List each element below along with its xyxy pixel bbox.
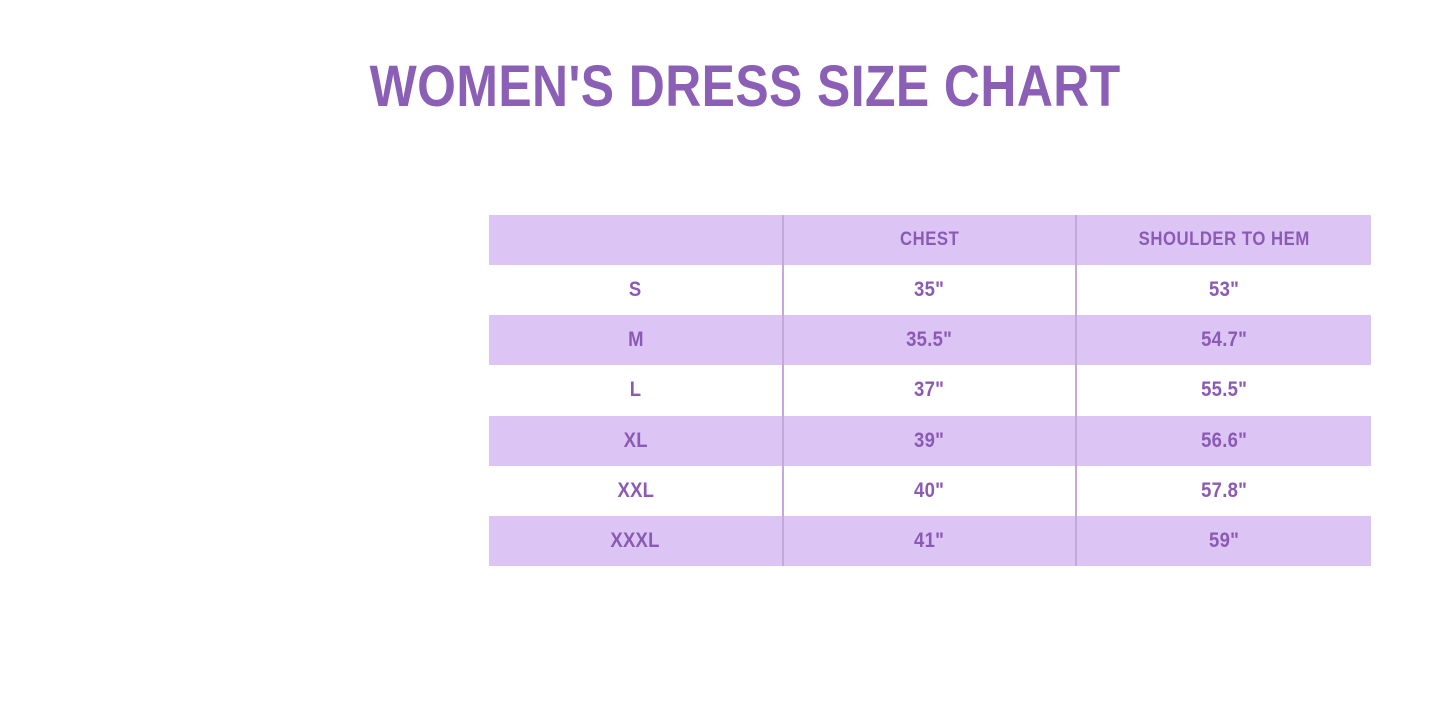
size-label: XL	[623, 429, 647, 453]
table-row: S 35" 53"	[489, 265, 1371, 315]
column-header-chest: CHEST	[783, 215, 1076, 265]
cell-size: XXXL	[489, 516, 783, 566]
cell-shoulder-to-hem: 55.5"	[1076, 365, 1371, 415]
shoulder-to-hem-value: 59"	[1209, 529, 1239, 553]
chest-value: 35"	[914, 278, 944, 302]
table-row: XL 39" 56.6"	[489, 416, 1371, 466]
table-row: XXL 40" 57.8"	[489, 466, 1371, 516]
column-header-shoulder-to-hem-label: SHOULDER TO HEM	[1138, 229, 1309, 251]
table-row: L 37" 55.5"	[489, 365, 1371, 415]
cell-size: S	[489, 265, 783, 315]
cell-chest: 40"	[783, 466, 1076, 516]
cell-size: L	[489, 365, 783, 415]
chest-value: 41"	[914, 529, 944, 553]
table-row: M 35.5" 54.7"	[489, 315, 1371, 365]
chest-value: 39"	[914, 429, 944, 453]
shoulder-to-hem-value: 57.8"	[1201, 479, 1247, 503]
chest-value: 40"	[914, 479, 944, 503]
cell-shoulder-to-hem: 57.8"	[1076, 466, 1371, 516]
cell-size: M	[489, 315, 783, 365]
chest-value: 35.5"	[906, 328, 952, 352]
cell-chest: 37"	[783, 365, 1076, 415]
cell-chest: 35.5"	[783, 315, 1076, 365]
size-label: XXXL	[611, 529, 660, 553]
column-header-size	[489, 215, 783, 265]
table-row: XXXL 41" 59"	[489, 516, 1371, 566]
shoulder-to-hem-value: 54.7"	[1201, 328, 1247, 352]
cell-chest: 35"	[783, 265, 1076, 315]
size-label: M	[628, 328, 644, 352]
table-header-row: CHEST SHOULDER TO HEM	[489, 215, 1371, 265]
page-title: WOMEN'S DRESS SIZE CHART	[124, 57, 1367, 118]
column-header-shoulder-to-hem: SHOULDER TO HEM	[1076, 215, 1371, 265]
size-label: XXL	[617, 479, 654, 503]
cell-size: XL	[489, 416, 783, 466]
cell-shoulder-to-hem: 59"	[1076, 516, 1371, 566]
size-label: L	[630, 378, 642, 402]
table-body: S 35" 53" M 35.5" 54.7" L	[489, 265, 1371, 566]
column-header-chest-label: CHEST	[900, 229, 959, 251]
cell-shoulder-to-hem: 54.7"	[1076, 315, 1371, 365]
shoulder-to-hem-value: 53"	[1209, 278, 1239, 302]
chest-value: 37"	[914, 378, 944, 402]
cell-chest: 39"	[783, 416, 1076, 466]
size-chart-table: CHEST SHOULDER TO HEM S 35" 53" M 35.5"	[489, 215, 1371, 566]
cell-chest: 41"	[783, 516, 1076, 566]
cell-shoulder-to-hem: 56.6"	[1076, 416, 1371, 466]
shoulder-to-hem-value: 56.6"	[1201, 429, 1247, 453]
shoulder-to-hem-value: 55.5"	[1201, 378, 1247, 402]
cell-shoulder-to-hem: 53"	[1076, 265, 1371, 315]
cell-size: XXL	[489, 466, 783, 516]
table-header: CHEST SHOULDER TO HEM	[489, 215, 1371, 265]
size-label: S	[629, 278, 642, 302]
